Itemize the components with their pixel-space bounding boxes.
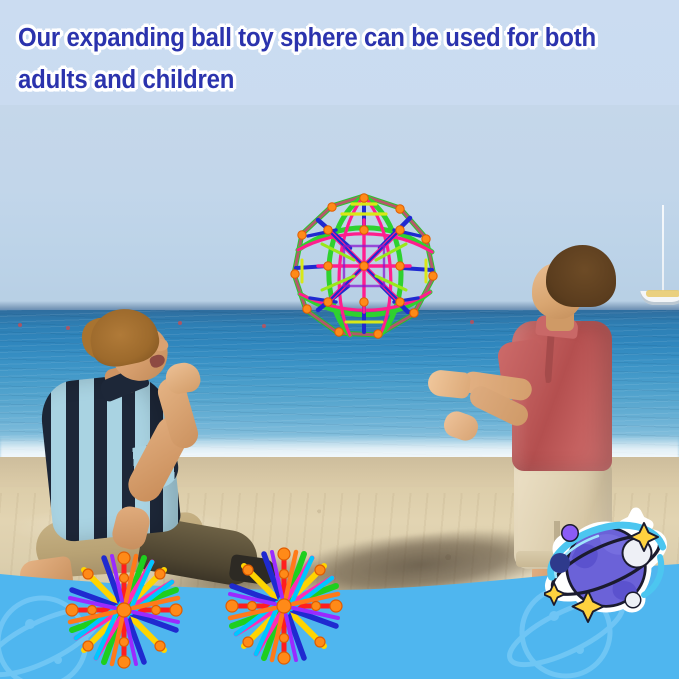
banner-canvas: Our expanding ball toy sphere can be use… — [0, 0, 679, 679]
man-hand — [164, 360, 203, 395]
collapsed-ball-left — [58, 544, 190, 676]
planet-logo-svg — [544, 505, 670, 629]
headline-area: Our expanding ball toy sphere can be use… — [0, 0, 679, 108]
collapsed-ball-left-svg — [58, 544, 190, 676]
boy-hair — [546, 245, 616, 307]
collapsed-ball-right-svg — [218, 540, 350, 672]
collapsed-ball-right — [218, 540, 350, 672]
expanded-sphere-svg — [288, 190, 440, 342]
planet-logo — [544, 505, 670, 629]
headline-text: Our expanding ball toy sphere can be use… — [18, 17, 624, 101]
moon-bottom — [626, 593, 640, 607]
buoy-marker — [262, 324, 266, 328]
expanded-sphere-ball — [288, 190, 440, 342]
moon-top — [563, 526, 578, 541]
moon-left — [550, 553, 570, 573]
